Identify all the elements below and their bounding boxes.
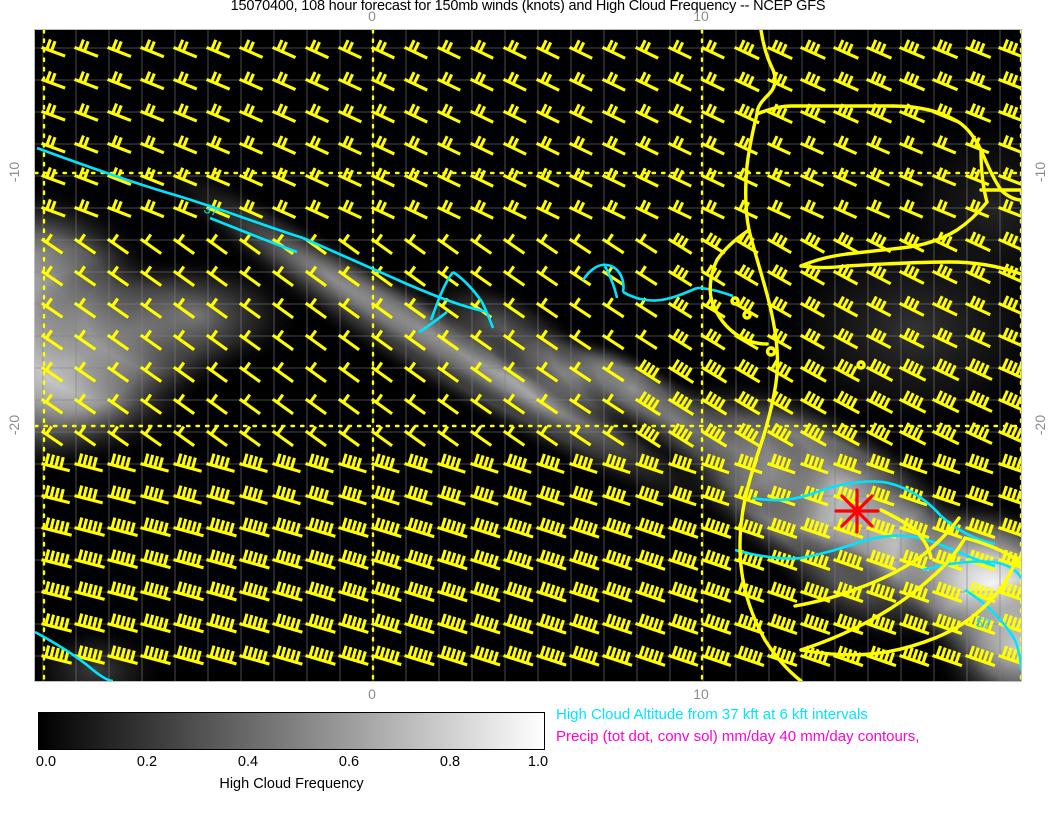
top-tick-10: 10 [693, 8, 709, 24]
colorbar-tick-0: 0.0 [36, 754, 56, 770]
colorbar-tick-5: 1.0 [528, 754, 548, 770]
contour-label-57: 57 [974, 614, 991, 632]
colorbar-title: High Cloud Frequency [38, 776, 545, 792]
plot-canvas: 37 57 [35, 30, 1021, 681]
bottom-tick-10: 10 [693, 686, 709, 702]
left-tick-minus20: -20 [6, 415, 22, 435]
colorbar-tick-4: 0.8 [440, 754, 460, 770]
weather-map-svg: 37 57 [35, 30, 1021, 681]
colorbar-tick-2: 0.4 [238, 754, 258, 770]
right-tick-minus20: -20 [1032, 415, 1048, 435]
plot-area: 37 57 [34, 29, 1022, 682]
colorbar-tick-3: 0.6 [339, 754, 359, 770]
legend-text-block: High Cloud Altitude from 37 kft at 6 kft… [556, 704, 1056, 748]
legend-cloud-altitude: High Cloud Altitude from 37 kft at 6 kft… [556, 704, 1056, 726]
legend-precip: Precip (tot dot, conv sol) mm/day 40 mm/… [556, 726, 1056, 748]
colorbar-tick-1: 0.2 [137, 754, 157, 770]
bottom-tick-0: 0 [368, 686, 376, 702]
top-tick-0: 0 [368, 8, 376, 24]
right-tick-minus10: -10 [1032, 162, 1048, 182]
station-marker-icon [836, 490, 878, 532]
colorbar-gradient [38, 712, 545, 750]
left-tick-minus10: -10 [6, 162, 22, 182]
page-title: 15070400, 108 hour forecast for 150mb wi… [0, 0, 1056, 14]
colorbar [38, 712, 545, 750]
